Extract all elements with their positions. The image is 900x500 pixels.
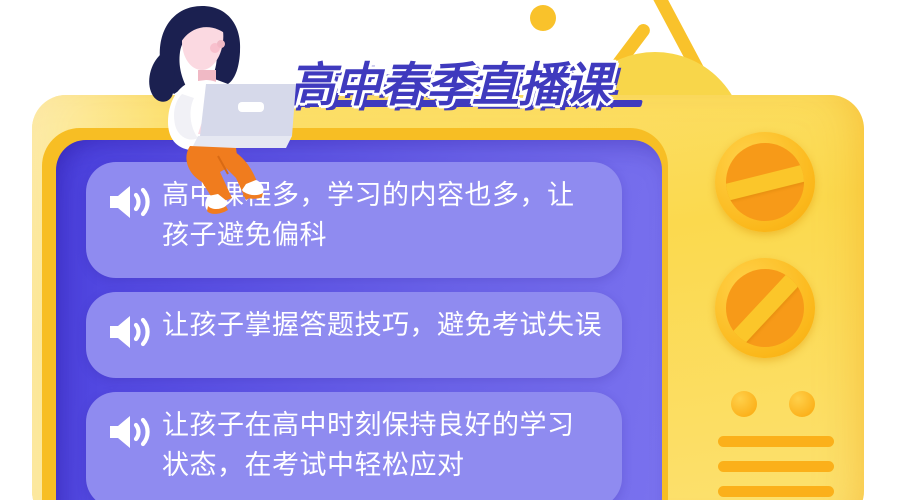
speaker-grille-bar — [718, 461, 834, 472]
speaker-icon — [106, 412, 152, 452]
channel-knob-indicator — [726, 269, 804, 347]
indicator-dot-2 — [789, 391, 815, 417]
speaker-grille-bar — [718, 436, 834, 447]
list-item[interactable]: 让孩子在高中时刻保持良好的学习 状态，在考试中轻松应对 — [86, 392, 622, 500]
list-item[interactable]: 让孩子掌握答题技巧，避免考试失误 — [86, 292, 622, 378]
poster-canvas: 高中课程多，学习的内容也多，让 孩子避免偏科 让孩子掌握答题技巧，避免考试失误 — [0, 0, 900, 500]
speaker-icon — [106, 312, 152, 352]
volume-knob-indicator — [726, 160, 804, 205]
volume-knob[interactable] — [715, 132, 815, 232]
channel-knob-slot — [726, 269, 804, 347]
page-title: 高中春季直播课 — [288, 46, 610, 115]
antenna-left-tip-icon — [530, 5, 556, 31]
volume-knob-slot — [726, 143, 804, 221]
list-item-label: 让孩子掌握答题技巧，避免考试失误 — [162, 306, 602, 346]
list-item-label: 让孩子在高中时刻保持良好的学习 状态，在考试中轻松应对 — [162, 406, 575, 486]
indicator-dot-1 — [731, 391, 757, 417]
channel-knob[interactable] — [715, 258, 815, 358]
speaker-grille-bar — [718, 486, 834, 497]
woman-with-laptop-illustration — [120, 0, 310, 218]
